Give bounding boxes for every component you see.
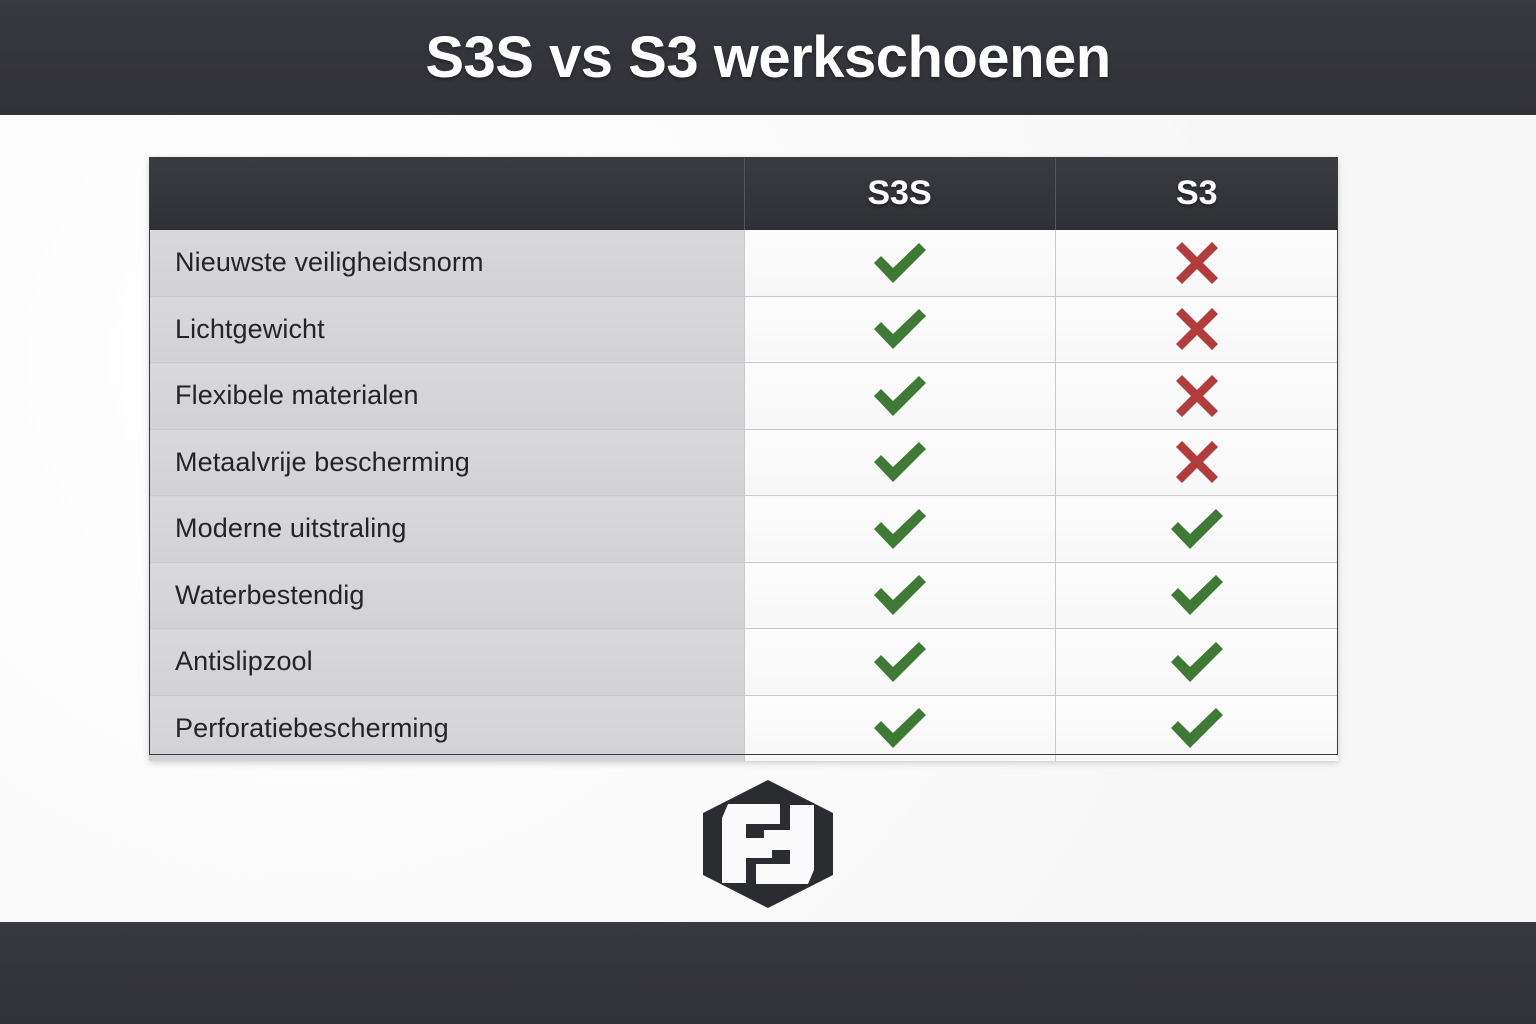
cell-s3 (1055, 496, 1338, 563)
cell-s3s (744, 296, 1055, 363)
check-icon (1166, 638, 1228, 686)
check-icon (869, 704, 931, 752)
page-title: S3S vs S3 werkschoenen (425, 29, 1110, 87)
cell-s3s (744, 695, 1055, 761)
feature-label: Nieuwste veiligheidsnorm (149, 230, 744, 296)
check-icon (869, 571, 931, 619)
table-row: Perforatiebescherming (149, 695, 1338, 761)
cell-s3 (1055, 296, 1338, 363)
brand-logo-container (0, 778, 1536, 910)
feature-label: Metaalvrije bescherming (149, 429, 744, 496)
feature-label: Flexibele materialen (149, 363, 744, 430)
cross-icon (1173, 305, 1221, 353)
table-header-row: S3S S3 (149, 157, 1338, 230)
cell-s3s (744, 629, 1055, 696)
cell-s3s (744, 496, 1055, 563)
bottom-banner (0, 922, 1536, 1024)
feature-label: Waterbestendig (149, 562, 744, 629)
content-area: S3S S3 Nieuwste veiligheidsnormLichtgewi… (0, 115, 1536, 922)
column-header-s3s: S3S (744, 157, 1055, 230)
cell-s3 (1055, 562, 1338, 629)
check-icon (1166, 571, 1228, 619)
cell-s3s (744, 562, 1055, 629)
feature-label: Antislipzool (149, 629, 744, 696)
feature-label: Perforatiebescherming (149, 695, 744, 761)
cell-s3s (744, 363, 1055, 430)
cross-icon (1173, 372, 1221, 420)
check-icon (869, 438, 931, 486)
feature-label: Lichtgewicht (149, 296, 744, 363)
check-icon (1166, 505, 1228, 553)
check-icon (869, 372, 931, 420)
cell-s3 (1055, 363, 1338, 430)
table-row: Antislipzool (149, 629, 1338, 696)
cell-s3 (1055, 629, 1338, 696)
table-body: Nieuwste veiligheidsnormLichtgewichtFlex… (149, 230, 1338, 761)
cell-s3s (744, 230, 1055, 296)
table-header: S3S S3 (149, 157, 1338, 230)
cell-s3 (1055, 695, 1338, 761)
cell-s3 (1055, 230, 1338, 296)
cross-icon (1173, 438, 1221, 486)
check-icon (869, 239, 931, 287)
table-row: Flexibele materialen (149, 363, 1338, 430)
feature-label: Moderne uitstraling (149, 496, 744, 563)
cell-s3s (744, 429, 1055, 496)
column-header-s3: S3 (1055, 157, 1338, 230)
check-icon (869, 305, 931, 353)
table-row: Waterbestendig (149, 562, 1338, 629)
check-icon (1166, 704, 1228, 752)
check-icon (869, 638, 931, 686)
column-header-feature (149, 157, 744, 230)
table-row: Nieuwste veiligheidsnorm (149, 230, 1338, 296)
cell-s3 (1055, 429, 1338, 496)
top-banner: S3S vs S3 werkschoenen (0, 0, 1536, 115)
table-row: Metaalvrije bescherming (149, 429, 1338, 496)
table-row: Moderne uitstraling (149, 496, 1338, 563)
comparison-table: S3S S3 Nieuwste veiligheidsnormLichtgewi… (149, 157, 1338, 761)
table-row: Lichtgewicht (149, 296, 1338, 363)
hexagon-f-logo (694, 778, 842, 910)
check-icon (869, 505, 931, 553)
cross-icon (1173, 239, 1221, 287)
comparison-table-container: S3S S3 Nieuwste veiligheidsnormLichtgewi… (149, 157, 1338, 761)
